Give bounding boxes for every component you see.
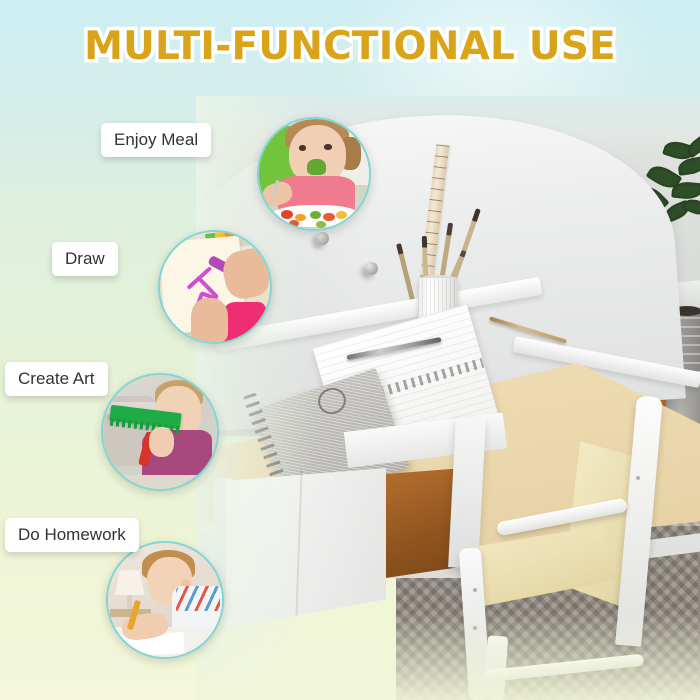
feature-label-do-homework: Do Homework (5, 518, 139, 552)
table-surface (103, 475, 217, 489)
cabinet-knob[interactable] (316, 232, 329, 245)
chair-screw (636, 476, 640, 480)
feature-label-create-art: Create Art (5, 362, 108, 396)
storage-cabinet-doors[interactable] (226, 468, 386, 628)
product-feature-image: MULTI-FUNCTIONAL USE (0, 0, 700, 700)
photo-backdrop (259, 119, 369, 229)
child-other-hand (191, 298, 228, 342)
broccoli-piece (307, 159, 326, 176)
feature-photo-draw (158, 230, 272, 344)
feature-photo-do-homework (106, 541, 224, 659)
feature-label-enjoy-meal: Enjoy Meal (101, 123, 211, 157)
chair-screw (473, 588, 477, 592)
feature-photo-enjoy-meal (257, 117, 371, 231)
child-hand (149, 427, 174, 457)
photo-backdrop (103, 375, 217, 489)
food-piece (289, 220, 299, 227)
feature-label-draw: Draw (52, 242, 118, 276)
food-piece (323, 213, 335, 222)
cabinet-knob[interactable] (365, 262, 378, 275)
lamp-shade (115, 570, 145, 595)
feature-photo-create-art (101, 373, 219, 491)
food-piece (316, 221, 326, 228)
shirt-stripes (176, 586, 219, 611)
child-eye (324, 144, 332, 150)
child-pink-shirt (222, 302, 266, 344)
photo-backdrop (108, 543, 222, 657)
child-eye (299, 145, 307, 151)
photo-backdrop (160, 232, 270, 342)
chair-screw (473, 626, 477, 630)
page-title: MULTI-FUNCTIONAL USE (0, 24, 700, 69)
food-piece (310, 211, 321, 219)
